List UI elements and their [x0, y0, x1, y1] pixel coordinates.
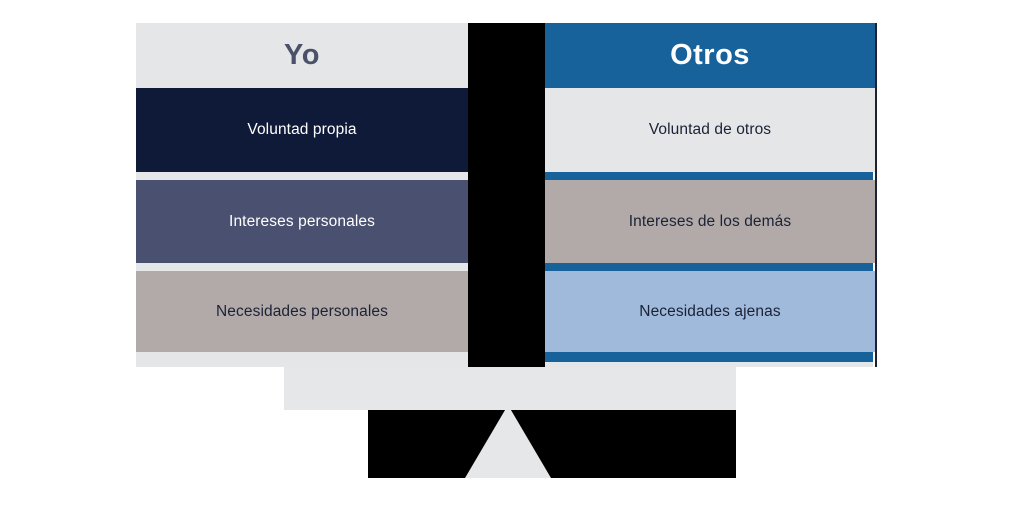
left-cell-voluntad-propia-label: Voluntad propia	[247, 121, 356, 139]
right-cell-voluntad-de-otros: Voluntad de otros	[545, 88, 875, 172]
center-occluder-bar	[468, 23, 545, 367]
right-cell-intereses-de-los-demas-label: Intereses de los demás	[629, 213, 791, 231]
right-cell-voluntad-de-otros-label: Voluntad de otros	[649, 121, 771, 139]
right-cell-necesidades-ajenas: Necesidades ajenas	[545, 271, 875, 352]
left-cell-necesidades-personales: Necesidades personales	[136, 271, 468, 352]
fulcrum-triangle-icon	[465, 405, 551, 478]
column-header-yo-label: Yo	[284, 39, 320, 72]
column-header-yo: Yo	[136, 23, 468, 88]
right-cell-intereses-de-los-demas: Intereses de los demás	[545, 180, 875, 263]
left-gap-1	[136, 172, 468, 180]
left-cell-voluntad-propia: Voluntad propia	[136, 88, 468, 172]
right-divider-2	[545, 263, 873, 271]
column-header-otros-label: Otros	[670, 39, 750, 72]
left-cell-intereses-personales-label: Intereses personales	[229, 213, 375, 231]
left-pan-footer	[136, 352, 468, 367]
right-cell-necesidades-ajenas-label: Necesidades ajenas	[639, 303, 780, 321]
scale-pan-left: Yo Voluntad propia Intereses personales …	[136, 23, 468, 367]
balance-beam	[284, 367, 736, 410]
right-divider-1	[545, 172, 873, 180]
scale-pan-right: Otros Voluntad de otros Intereses de los…	[545, 23, 877, 367]
balance-base-block	[368, 410, 736, 478]
right-divider-3	[545, 352, 873, 362]
left-cell-intereses-personales: Intereses personales	[136, 180, 468, 263]
left-gap-2	[136, 263, 468, 271]
diagram-canvas: Yo Voluntad propia Intereses personales …	[0, 0, 1024, 519]
left-cell-necesidades-personales-label: Necesidades personales	[216, 303, 388, 321]
column-header-otros: Otros	[545, 23, 875, 88]
